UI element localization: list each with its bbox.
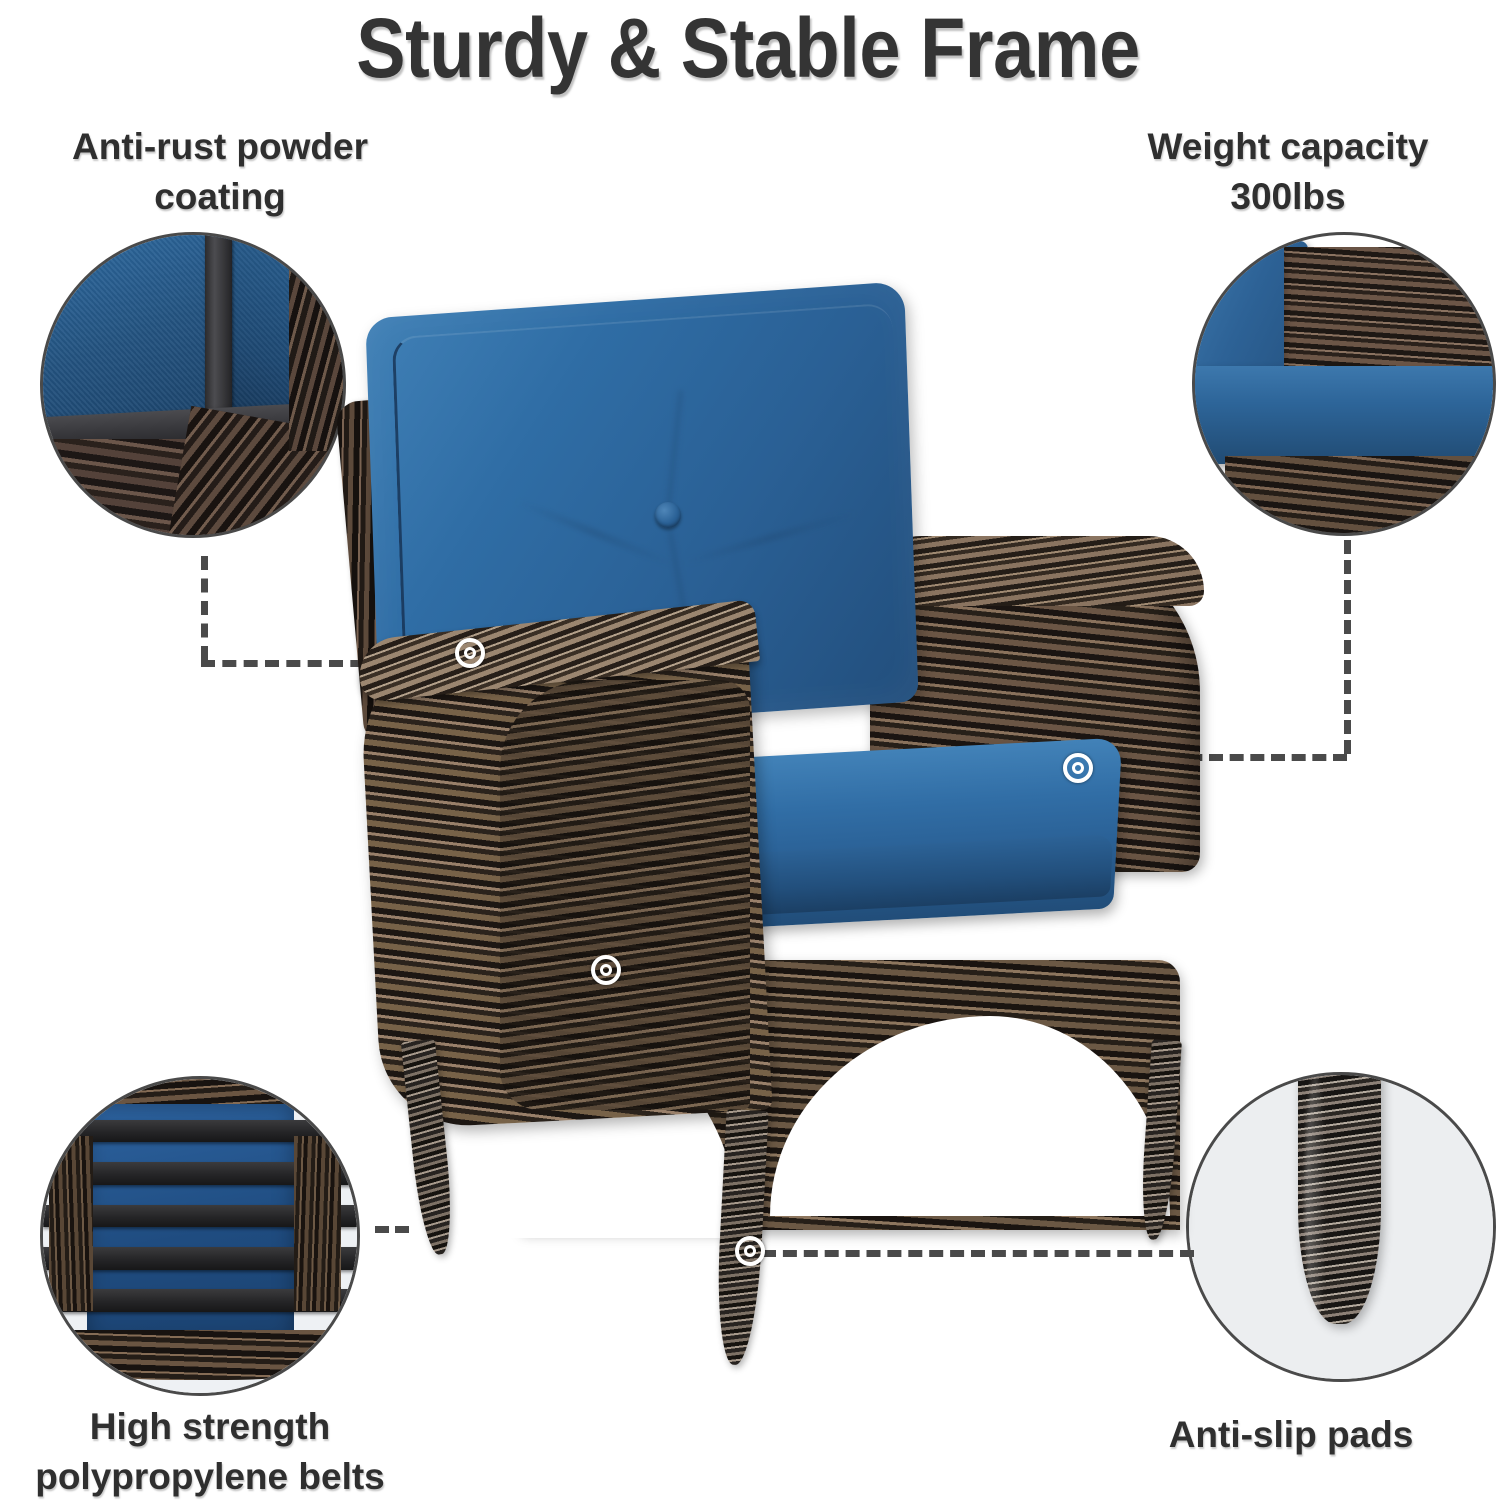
wicker-base-panel [1225, 456, 1496, 536]
page-title: Sturdy & Stable Frame [90, 2, 1406, 94]
marker-arm-icon [455, 638, 485, 668]
callout-circle-anti-rust [40, 232, 346, 538]
belts-detail-image [43, 1079, 357, 1393]
wicker-side-right [294, 1136, 341, 1312]
callout-circle-polypropylene-belts [40, 1076, 360, 1396]
callout-caption-anti-slip-pads: Anti-slip pads [1086, 1410, 1496, 1460]
infographic-page: Sturdy & Stable Frame Anti-rust powder c… [0, 0, 1496, 1500]
marker-leg-icon [735, 1236, 765, 1266]
callout-caption-weight-capacity: Weight capacity 300lbs [1080, 122, 1496, 222]
callout-caption-polypropylene-belts: High strength polypropylene belts [0, 1402, 420, 1500]
connector-line-weight-vertical [1344, 540, 1351, 754]
product-chair-image [350, 280, 1250, 1260]
wicker-bottom-edge [62, 1330, 338, 1380]
leg-highlight [1305, 1075, 1326, 1318]
callout-caption-anti-rust: Anti-rust powder coating [10, 122, 430, 222]
wicker-side-left [49, 1136, 93, 1312]
cushion-button [655, 502, 681, 528]
marker-seat-icon [1063, 753, 1093, 783]
connector-line-anti-rust-vertical [201, 556, 208, 660]
chair-arm-right-top [866, 536, 1204, 606]
chair-arm-left-inner [500, 680, 750, 1110]
anti-rust-detail-image [43, 235, 343, 535]
marker-skirt-icon [591, 955, 621, 985]
